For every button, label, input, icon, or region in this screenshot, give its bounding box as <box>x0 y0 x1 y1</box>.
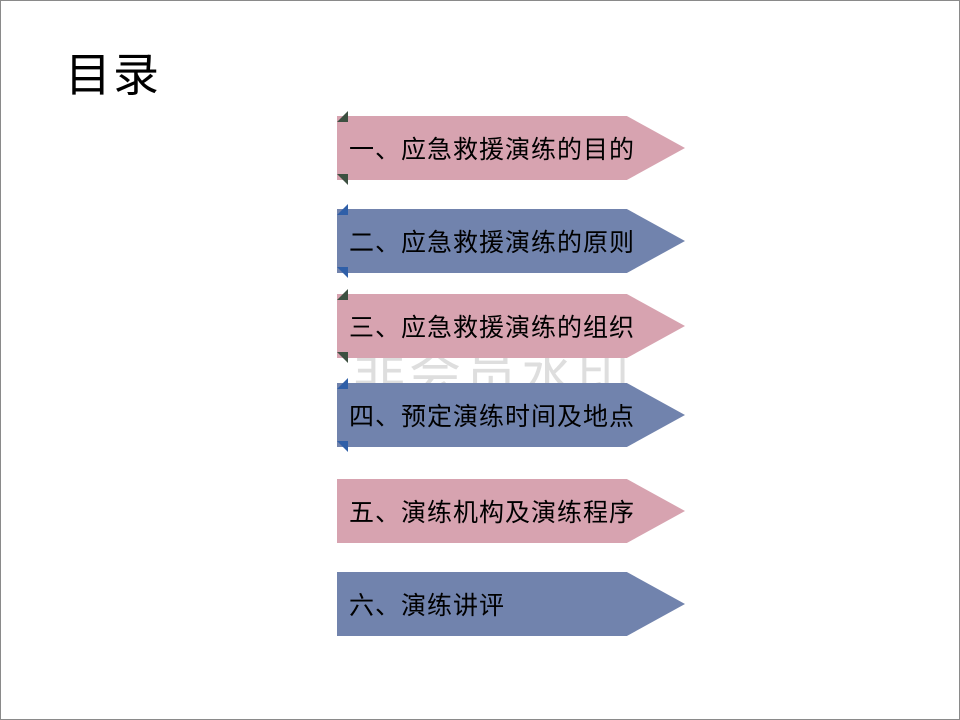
toc-item-1[interactable]: 一、应急救援演练的目的 <box>337 116 685 180</box>
toc-item-label: 一、应急救援演练的目的 <box>349 116 635 180</box>
presentation-slide: 目录 非会员水印 一、应急救援演练的目的二、应急救援演练的原则三、应急救援演练的… <box>0 0 960 720</box>
toc-item-5[interactable]: 五、演练机构及演练程序 <box>337 479 685 543</box>
toc-item-label: 三、应急救援演练的组织 <box>349 294 635 358</box>
toc-item-label: 二、应急救援演练的原则 <box>349 209 635 273</box>
toc-item-4[interactable]: 四、预定演练时间及地点 <box>337 383 685 447</box>
toc-item-label: 六、演练讲评 <box>349 572 505 636</box>
toc-item-2[interactable]: 二、应急救援演练的原则 <box>337 209 685 273</box>
toc-item-3[interactable]: 三、应急救援演练的组织 <box>337 294 685 358</box>
table-of-contents-list: 一、应急救援演练的目的二、应急救援演练的原则三、应急救援演练的组织四、预定演练时… <box>1 1 960 720</box>
toc-item-6[interactable]: 六、演练讲评 <box>337 572 685 636</box>
toc-item-label: 四、预定演练时间及地点 <box>349 383 635 447</box>
toc-item-label: 五、演练机构及演练程序 <box>349 479 635 543</box>
